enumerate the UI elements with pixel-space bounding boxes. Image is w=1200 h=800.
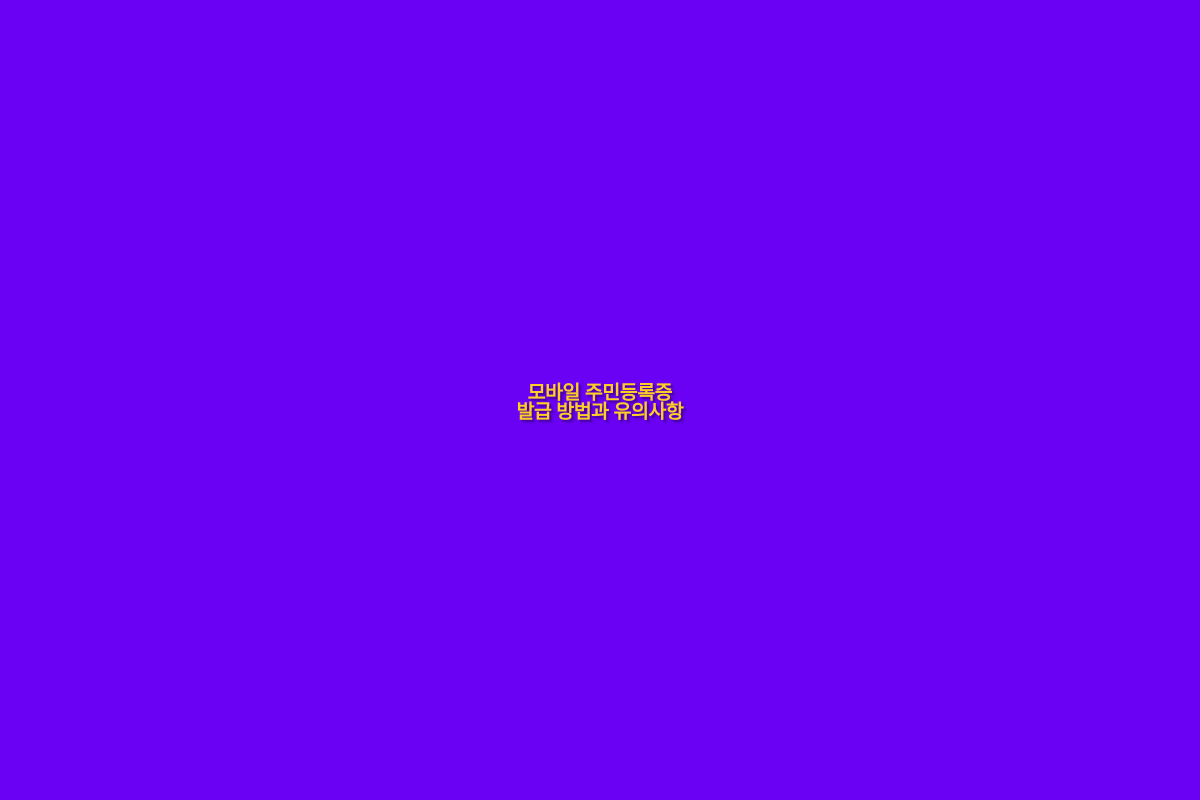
headline-line-1: 모바일 주민등록증 <box>18 384 1182 404</box>
headline-block: 모바일 주민등록증 발급 방법과 유의사항 <box>0 384 1200 423</box>
headline-line-2: 발급 방법과 유의사항 <box>18 403 1182 423</box>
thumbnail-card: 모바일 주민등록증 발급 방법과 유의사항 <box>0 0 1200 800</box>
